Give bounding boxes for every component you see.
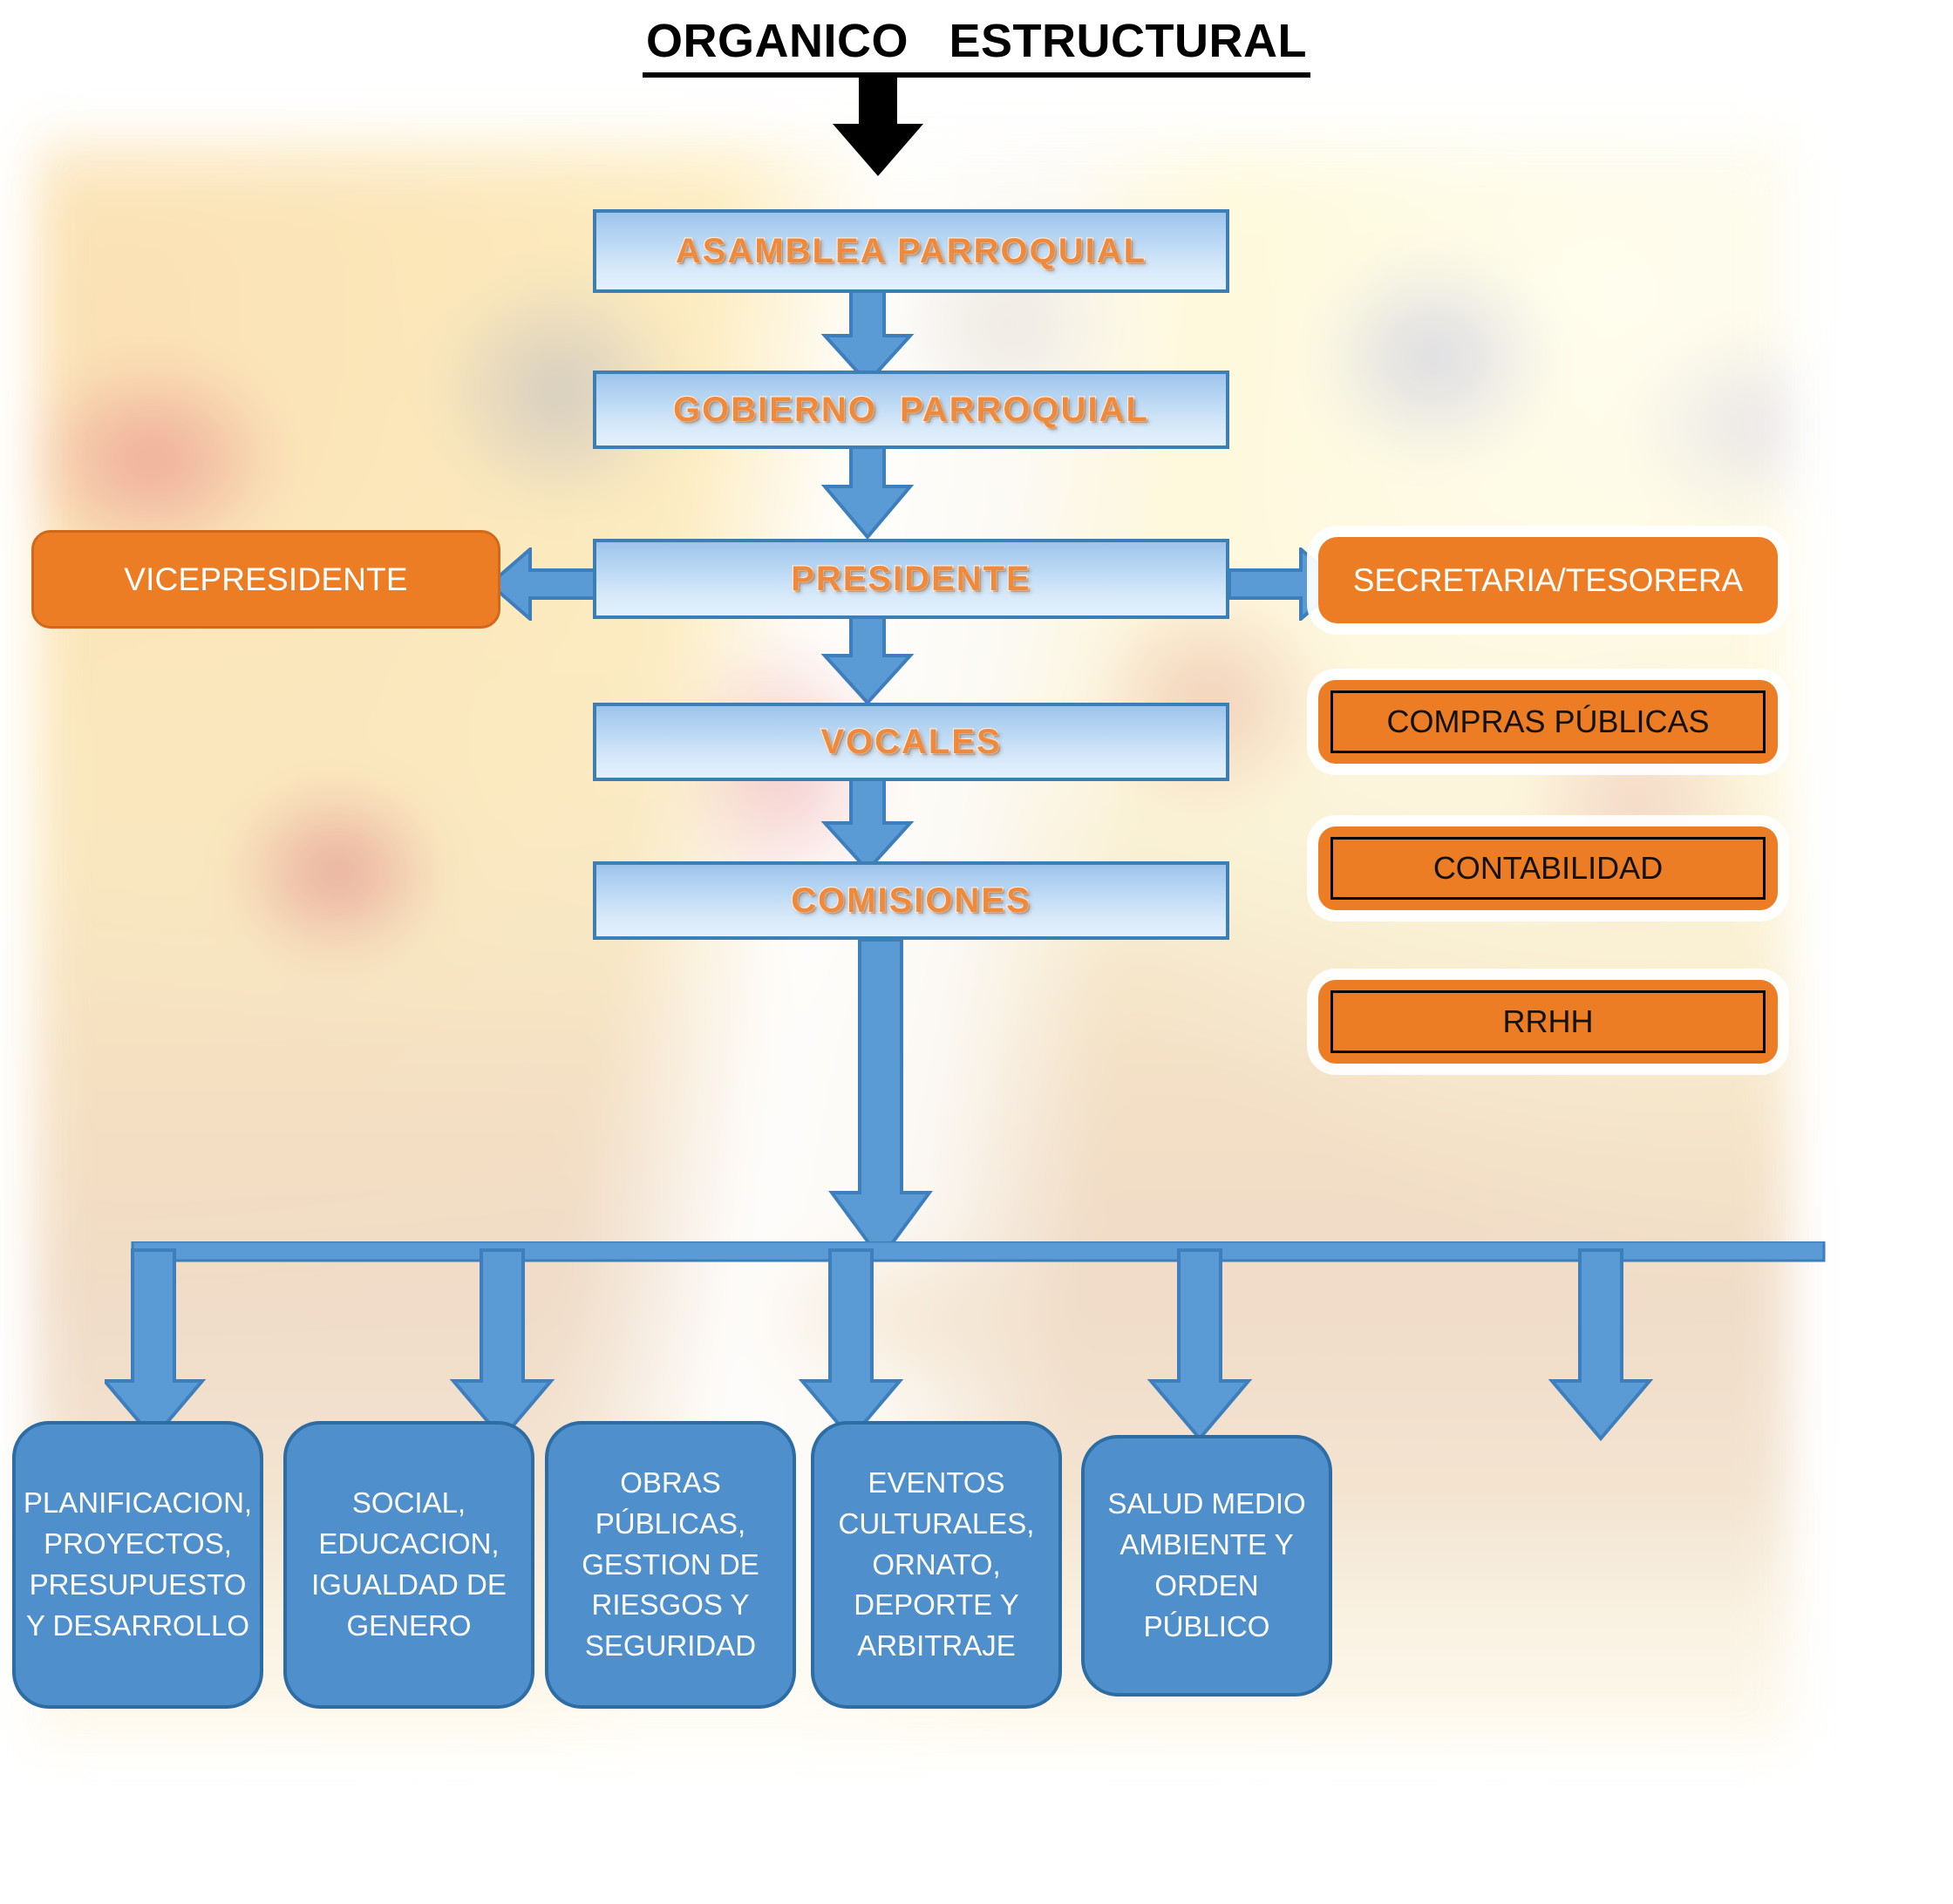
node-rrhh-label: RRHH [1503, 1003, 1594, 1040]
node-asamblea-parroquial-label: ASAMBLEA PARROQUIAL [676, 232, 1147, 271]
arrow-comisiones-to-bus [828, 940, 942, 1262]
node-comisiones-label: COMISIONES [791, 881, 1031, 921]
distribution-bus-and-branch-arrows [105, 1241, 1848, 1442]
node-contabilidad-inner: CONTABILIDAD [1330, 837, 1766, 900]
node-vicepresidente-label: VICEPRESIDENTE [124, 561, 408, 598]
entry-down-arrow-icon [826, 73, 930, 178]
node-compras-publicas[interactable]: COMPRAS PÚBLICAS [1318, 680, 1778, 764]
node-commission-social-label: SOCIAL, EDUCACION, IGUALDAD DE GENERO [297, 1483, 521, 1646]
node-commission-eventos[interactable]: EVENTOS CULTURALES, ORNATO, DEPORTE Y AR… [811, 1421, 1062, 1709]
node-vocales[interactable]: VOCALES [593, 703, 1229, 781]
node-contabilidad-label: CONTABILIDAD [1433, 850, 1663, 887]
node-commission-obras-publicas-label: OBRAS PÚBLICAS, GESTION DE RIESGOS Y SEG… [559, 1463, 782, 1667]
node-commission-planificacion-label: PLANIFICACION, PROYECTOS, PRESUPUESTO Y … [24, 1483, 252, 1646]
page-title: ORGANICO ESTRUCTURAL [0, 14, 1953, 68]
node-commission-obras-publicas[interactable]: OBRAS PÚBLICAS, GESTION DE RIESGOS Y SEG… [545, 1421, 796, 1709]
node-vocales-label: VOCALES [820, 723, 1001, 762]
node-commission-salud[interactable]: SALUD MEDIO AMBIENTE Y ORDEN PÚBLICO [1081, 1435, 1332, 1697]
node-commission-salud-label: SALUD MEDIO AMBIENTE Y ORDEN PÚBLICO [1095, 1484, 1318, 1647]
node-rrhh[interactable]: RRHH [1318, 980, 1778, 1064]
node-gobierno-parroquial[interactable]: GOBIERNO PARROQUIAL [593, 371, 1229, 449]
node-vicepresidente[interactable]: VICEPRESIDENTE [31, 530, 500, 629]
node-comisiones[interactable]: COMISIONES [593, 861, 1229, 940]
node-compras-publicas-label: COMPRAS PÚBLICAS [1386, 704, 1709, 740]
node-rrhh-inner: RRHH [1330, 990, 1766, 1053]
node-presidente-label: PRESIDENTE [791, 560, 1031, 599]
node-compras-publicas-inner: COMPRAS PÚBLICAS [1330, 690, 1766, 753]
arrow-vocales-to-comisiones [811, 778, 924, 874]
arrow-presidente-to-vicepresidente [488, 547, 602, 621]
arrow-presidente-to-vocales [811, 610, 924, 706]
node-commission-eventos-label: EVENTOS CULTURALES, ORNATO, DEPORTE Y AR… [825, 1463, 1048, 1667]
node-commission-social[interactable]: SOCIAL, EDUCACION, IGUALDAD DE GENERO [283, 1421, 534, 1709]
page-title-text: ORGANICO ESTRUCTURAL [643, 15, 1310, 78]
node-presidente[interactable]: PRESIDENTE [593, 539, 1229, 619]
node-gobierno-parroquial-label: GOBIERNO PARROQUIAL [673, 391, 1149, 430]
arrow-gobierno-to-presidente [811, 436, 924, 541]
node-secretaria-tesorera-label: SECRETARIA/TESORERA [1353, 562, 1744, 599]
node-secretaria-tesorera[interactable]: SECRETARIA/TESORERA [1318, 537, 1778, 623]
organigram-canvas: ORGANICO ESTRUCTURAL [0, 0, 1953, 1904]
node-commission-planificacion[interactable]: PLANIFICACION, PROYECTOS, PRESUPUESTO Y … [12, 1421, 263, 1709]
node-contabilidad[interactable]: CONTABILIDAD [1318, 826, 1778, 910]
node-asamblea-parroquial[interactable]: ASAMBLEA PARROQUIAL [593, 209, 1229, 293]
